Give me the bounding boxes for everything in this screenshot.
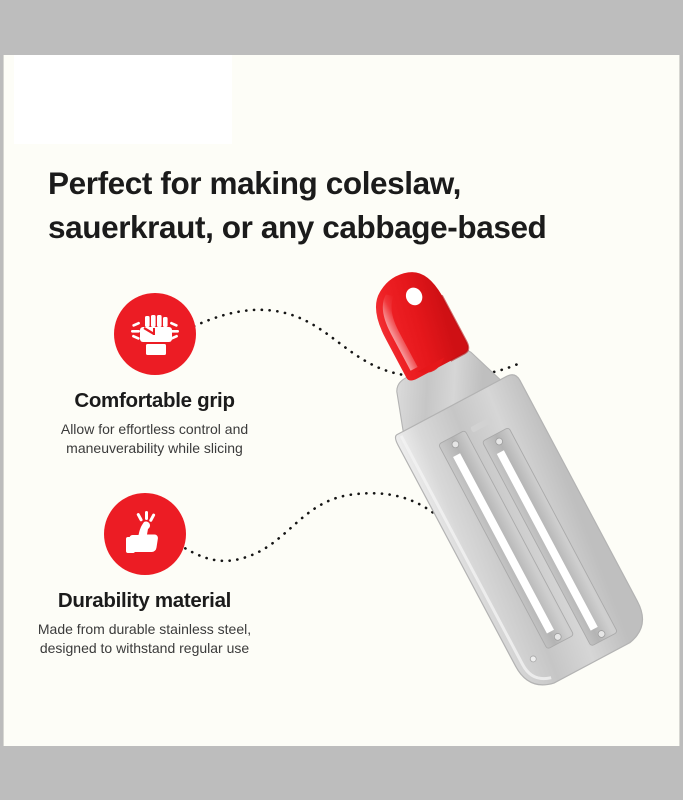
headline-line-1: Perfect for making coleslaw,: [48, 161, 648, 205]
feature-desc-1-line-1: Allow for effortless control and: [22, 420, 287, 439]
feature-icon-badge-2: [104, 493, 186, 575]
feature-comfortable-grip: Comfortable grip Allow for effortless co…: [22, 293, 287, 458]
feature-desc-2-line-2: designed to withstand regular use: [12, 639, 277, 658]
feature-icon-badge-1: [114, 293, 196, 375]
feature-desc-2-line-1: Made from durable stainless steel,: [12, 620, 277, 639]
letterbox-bottom: [0, 746, 683, 800]
product-image: [304, 245, 680, 725]
page-title: Perfect for making coleslaw, sauerkraut,…: [48, 161, 648, 249]
feature-title-2: Durability material: [12, 589, 277, 614]
headline-line-2: sauerkraut, or any cabbage-based: [48, 205, 648, 249]
feature-description-1: Allow for effortless control and maneuve…: [22, 420, 287, 459]
feature-durability-material: Durability material Made from durable st…: [12, 493, 277, 658]
infographic-canvas: Perfect for making coleslaw, sauerkraut,…: [3, 55, 680, 746]
feature-title-1: Comfortable grip: [22, 389, 287, 414]
letterbox-top: [0, 0, 683, 55]
screenshot-stage: Perfect for making coleslaw, sauerkraut,…: [0, 0, 683, 800]
blade-plate: [372, 331, 653, 695]
thumbs-up-icon: [119, 508, 171, 560]
white-highlight-patch: [14, 55, 232, 144]
feature-desc-1-line-2: maneuverability while slicing: [22, 439, 287, 458]
feature-description-2: Made from durable stainless steel, desig…: [12, 620, 277, 659]
fist-grip-icon: [129, 308, 181, 360]
